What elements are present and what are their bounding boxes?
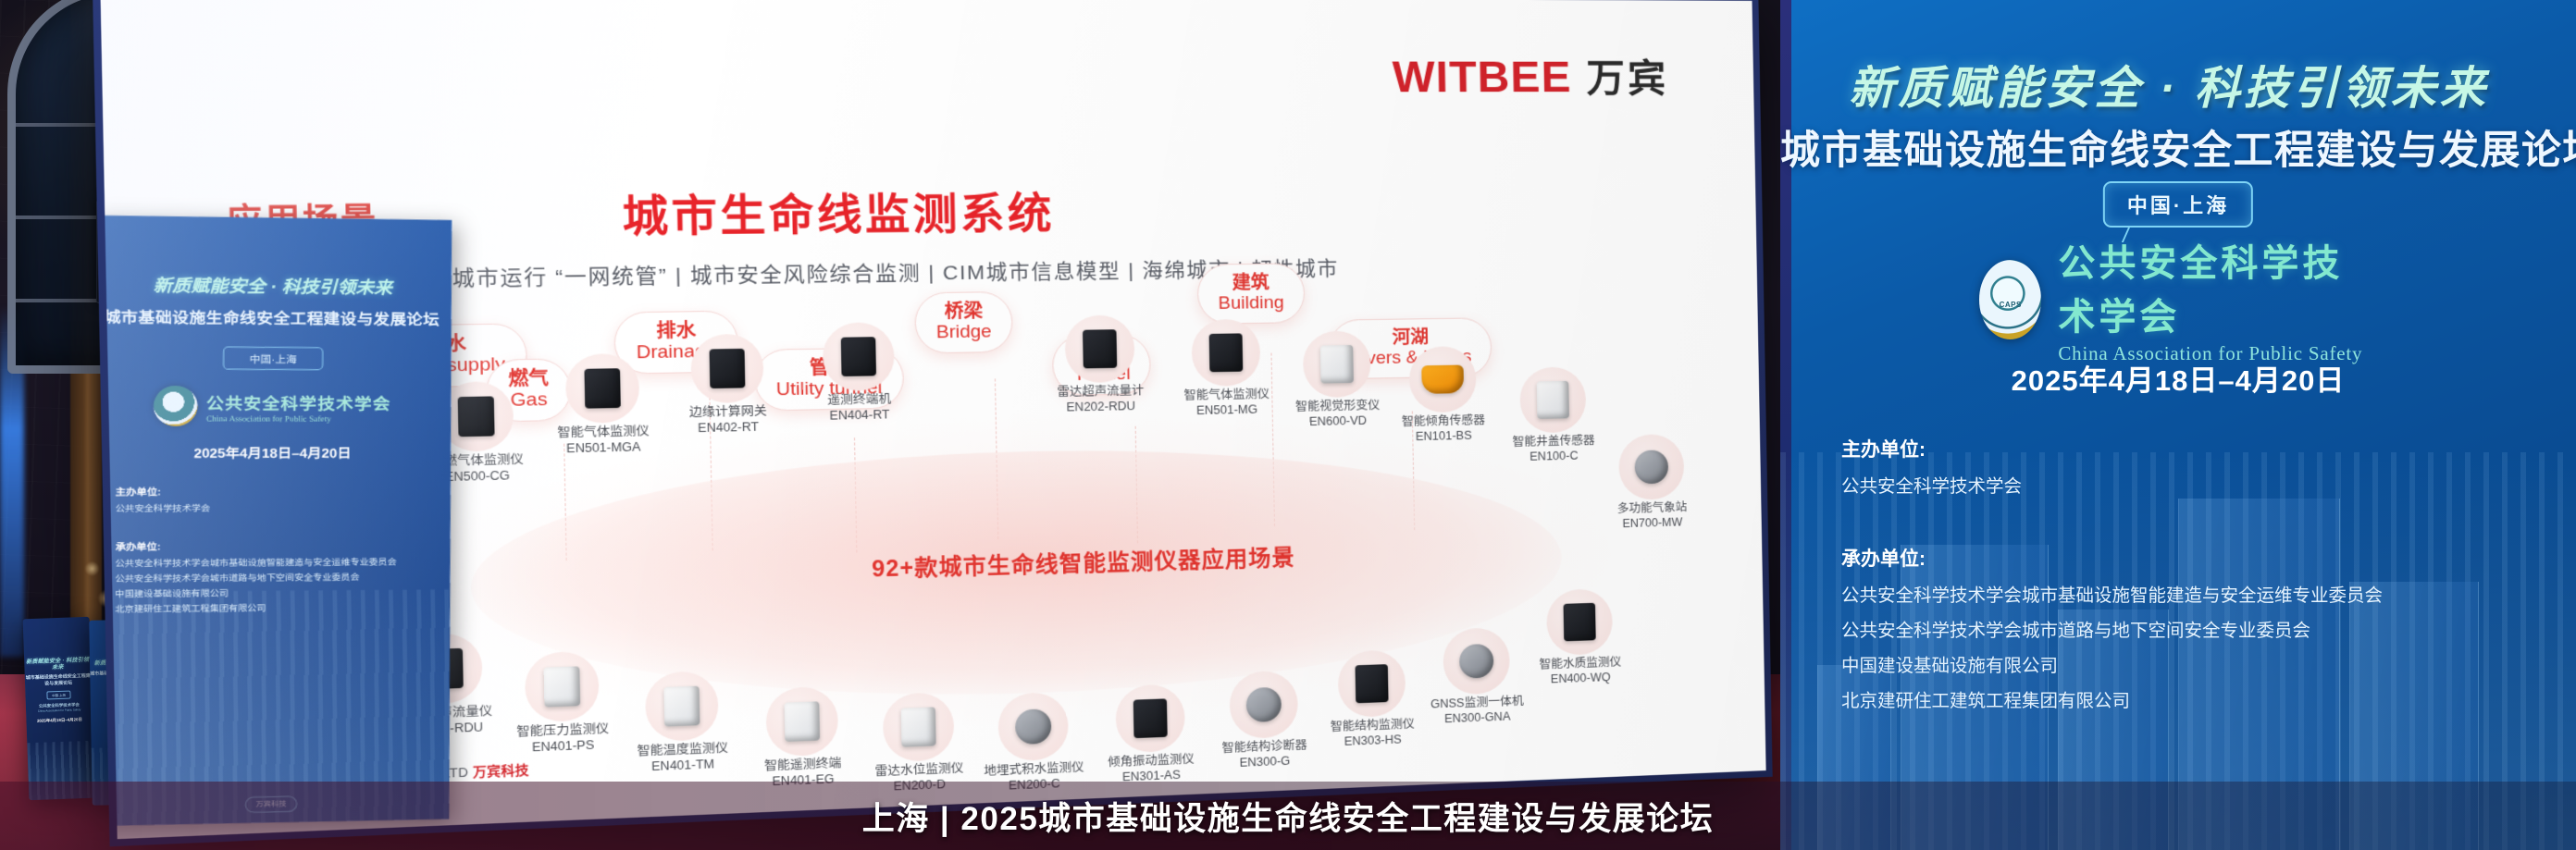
- mini-poster-org-en: China Association for Public Safety: [206, 413, 391, 423]
- pressure-sensor-icon: [544, 666, 581, 707]
- structure-diagnostic-icon: [1246, 687, 1282, 722]
- pill-label-cn: 建筑: [1218, 273, 1284, 294]
- device-node[interactable]: 智能温度监测仪 EN401-TM: [613, 670, 752, 776]
- device-model: EN202-RDU: [1035, 399, 1167, 416]
- mini-poster-host-label: 主办单位:: [116, 484, 451, 499]
- banner-organizer-block: 承办单位: 公共安全科学技术学会城市基础设施智能建造与安全运维专业委员会 公共安…: [1841, 544, 2383, 719]
- device-model: EN501-MGA: [534, 439, 673, 458]
- buried-water-sensor-icon: [1015, 708, 1052, 745]
- banner-organizer-label: 承办单位:: [1841, 544, 2383, 572]
- mini-poster-host-block: 主办单位: 公共安全科学技术学会: [116, 484, 451, 517]
- device-bubble: [690, 334, 764, 404]
- podium-panel-back: 新质赋能安全 · 科技引领未来 城市基础设施生命线安全工程建设与发展论坛 中国·…: [23, 617, 96, 800]
- podium-tagline: 新质赋能安全 · 科技引领未来: [24, 658, 91, 672]
- device-bubble: [997, 692, 1069, 762]
- device-model: EN101-BS: [1381, 427, 1506, 445]
- device-bubble: [1229, 671, 1298, 740]
- mini-poster-tagline: 新质赋能安全 · 科技引领未来: [103, 270, 440, 299]
- device-model: EN404-RT: [792, 407, 927, 425]
- mini-poster-host: 公共安全科学技术学会: [116, 500, 451, 516]
- device-bubble: [1519, 366, 1586, 433]
- device-bubble: [1337, 649, 1406, 718]
- weather-station-icon: [1634, 450, 1668, 484]
- device-bubble: [1618, 434, 1685, 500]
- water-quality-icon: [1564, 603, 1596, 642]
- mini-poster-organizer-label: 承办单位:: [116, 537, 451, 553]
- device-bubble: [1546, 588, 1613, 656]
- device-bubble: [1064, 314, 1134, 383]
- banner-organizer: 北京建研住工建筑工程集团有限公司: [1841, 684, 2383, 719]
- device-node[interactable]: 地埋式积水监测仪 EN200-C: [966, 691, 1100, 795]
- brand-name-en: WITBEE: [1392, 50, 1572, 102]
- banner-organizer: 公共安全科学技术学会城市基础设施智能建造与安全运维专业委员会: [1841, 578, 2383, 613]
- gnss-icon: [1459, 644, 1494, 679]
- sensor-icon: [458, 396, 495, 437]
- device-bubble: [1443, 627, 1510, 696]
- device-model: EN402-RT: [660, 419, 797, 437]
- mini-poster-org-cn: 公共安全科学技术学会: [206, 389, 391, 414]
- mini-poster-location-badge: 中国·上海: [223, 347, 323, 371]
- device-node[interactable]: 智能气体监测仪 EN501-MGA: [532, 352, 673, 457]
- slide-title: 城市生命线监测系统: [622, 179, 1055, 244]
- device-node[interactable]: 智能压力监测仪 EN401-PS: [491, 649, 633, 757]
- pill-bridge[interactable]: 桥梁 Bridge: [914, 291, 1013, 354]
- device-bubble: [525, 651, 600, 723]
- radar-level-icon: [901, 707, 936, 746]
- device-bubble: [565, 353, 640, 424]
- banner-org-row: 公共安全科学技术学会 China Association for Public …: [1979, 233, 2377, 365]
- camera-icon: [1320, 345, 1354, 384]
- presentation-slide: WITBEE 万宾 应用场景 城市生命线监测系统 城市运行 “一网统管” | 城…: [100, 0, 1765, 839]
- podium-forum: 城市基础设施生命线安全工程建设与发展论坛: [25, 672, 92, 688]
- device-bubble: [1115, 684, 1185, 753]
- copyright-brand: 万宾科技: [473, 762, 529, 779]
- banner-host: 公共安全科学技术学会: [1841, 469, 2022, 504]
- temperature-sensor-icon: [663, 686, 700, 727]
- device-node[interactable]: 边缘计算网关 EN402-RT: [658, 333, 797, 437]
- device-bubble: [765, 686, 838, 758]
- device-bubble: [645, 671, 719, 742]
- podium-location-badge: 中国·上海: [46, 691, 70, 700]
- screenshot-root: 新质赋能安全 · 科技引领未来 城市基础设施生命线安全工程建设与发展论坛 中国·…: [0, 0, 2576, 850]
- mini-poster-org-row: 公共安全科学技术学会 China Association for Public …: [100, 386, 451, 427]
- device-model: EN400-WQ: [1518, 669, 1642, 688]
- witbee-logo: WITBEE 万宾: [1392, 46, 1669, 103]
- device-bubble: [1191, 319, 1260, 387]
- mini-poster-forum: 城市基础设施生命线安全工程建设与发展论坛: [100, 306, 447, 330]
- banner-tagline: 新质赋能安全 · 科技引领未来: [1817, 52, 2520, 117]
- device-node[interactable]: 智能水质监测仪 EN400-WQ: [1517, 587, 1642, 688]
- device-bubble: [1303, 330, 1371, 398]
- device-node[interactable]: 倾角振动监测仪 EN301-AS: [1084, 683, 1217, 786]
- bottom-caption-bar: 上海 | 2025城市基础设施生命线安全工程建设与发展论坛: [0, 782, 2576, 850]
- gas-monitor-icon: [1209, 333, 1244, 372]
- caps-seal-icon: [154, 386, 198, 426]
- mini-event-poster: 新质赋能安全 · 科技引领未来 城市基础设施生命线安全工程建设与发展论坛 中国·…: [100, 216, 452, 826]
- device-model: EN501-MG: [1162, 401, 1292, 419]
- sensor-icon: [584, 368, 620, 408]
- vibration-sensor-icon: [1133, 698, 1168, 738]
- podium-date: 2025年4月18日–4月20日: [26, 717, 93, 725]
- caption-text: 上海 | 2025城市基础设施生命线安全工程建设与发展论坛: [862, 793, 1715, 840]
- pill-building[interactable]: 建筑 Building: [1197, 263, 1306, 325]
- projection-screen: WITBEE 万宾 应用场景 城市生命线监测系统 城市运行 “一网统管” | 城…: [93, 0, 1773, 846]
- banner-org-cn: 公共安全科学技术学会: [2058, 233, 2377, 340]
- flowmeter-icon: [1083, 329, 1117, 368]
- tilt-sensor-icon: [1421, 365, 1464, 394]
- pill-label-en: Building: [1218, 293, 1284, 314]
- manhole-sensor-icon: [1537, 381, 1569, 419]
- structure-monitor-icon: [1355, 664, 1388, 703]
- device-node[interactable]: 遥测终端机 EN404-RT: [790, 322, 927, 425]
- device-node[interactable]: 多功能气象站 EN700-MW: [1590, 433, 1715, 532]
- device-bubble: [823, 322, 896, 391]
- device-bubble: [1408, 346, 1476, 413]
- banner-host-label: 主办单位:: [1841, 435, 2022, 462]
- pill-label-cn: 桥梁: [935, 302, 991, 323]
- banner-host-block: 主办单位: 公共安全科学技术学会: [1841, 435, 2022, 504]
- telemetry-terminal-icon: [785, 701, 821, 742]
- banner-organizer: 公共安全科学技术学会城市道路与地下空间安全专业委员会: [1841, 613, 2383, 648]
- banner-location-badge: 中国·上海: [2103, 181, 2253, 228]
- gateway-icon: [710, 349, 746, 388]
- device-node[interactable]: 雷达超声流量计 EN202-RDU: [1034, 314, 1167, 416]
- event-banner: 新质赋能安全 · 科技引领未来 城市基础设施生命线安全工程建设与发展论坛 中国·…: [1780, 0, 2576, 850]
- device-model: EN700-MW: [1591, 514, 1714, 532]
- banner-organizer: 中国建设基础设施有限公司: [1841, 648, 2383, 684]
- device-node[interactable]: 智能倾角传感器 EN101-BS: [1379, 345, 1506, 445]
- mini-poster-date: 2025年4月18日–4月20日: [100, 442, 451, 462]
- pill-label-en: Bridge: [936, 322, 992, 344]
- banner-date: 2025年4月18日–4月20日: [2012, 357, 2346, 399]
- terminal-icon: [841, 337, 876, 376]
- caps-seal-icon: [1979, 260, 2041, 339]
- brand-name-cn: 万宾: [1586, 47, 1669, 104]
- banner-forum-title: 城市基础设施生命线安全工程建设与发展论坛: [1780, 118, 2576, 176]
- device-bubble: [883, 692, 955, 762]
